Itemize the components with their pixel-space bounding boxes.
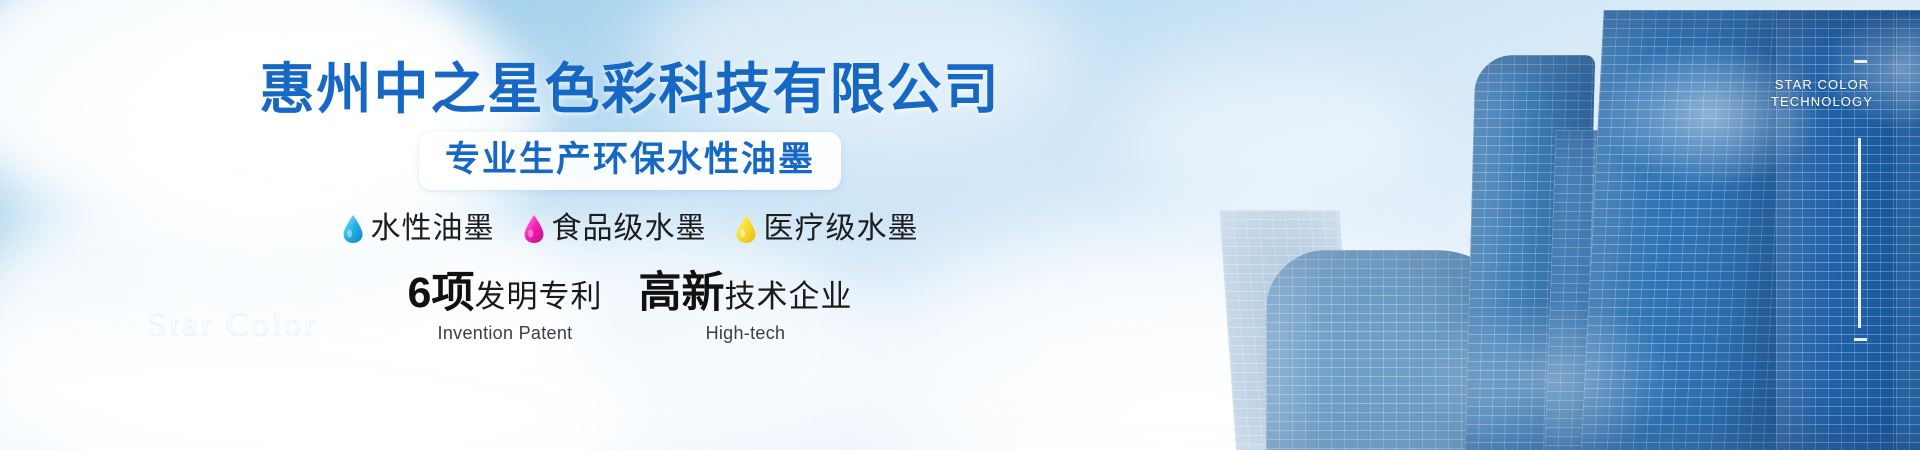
list-item: 水性油墨 (342, 212, 495, 246)
list-item: 食品级水墨 (523, 212, 707, 246)
tagline-badge: 专业生产环保水性油墨 (419, 132, 841, 190)
water-drop-icon (523, 214, 545, 244)
brand-rule-top (1854, 60, 1867, 63)
credential-english: High-tech (706, 322, 786, 344)
banner-content: 惠州中之星色彩科技有限公司 专业生产环保水性油墨 (0, 0, 1260, 450)
building-brand-text: STAR COLOR TECHNOLOGY (1756, 76, 1888, 110)
building-far-right-sliver (1896, 10, 1920, 450)
list-item: 医疗级水墨 (735, 212, 919, 246)
credentials-row: 6项 发明专利 Invention Patent 高新 技术企业 High-te… (408, 270, 853, 344)
credential-strong: 6项 (408, 270, 475, 317)
brand-rule-vertical (1858, 138, 1861, 328)
credential-line: 高新 技术企业 (638, 270, 852, 320)
water-drop-icon (342, 214, 364, 244)
product-list: 水性油墨 (342, 212, 919, 246)
water-drop-icon (735, 214, 757, 244)
credential-line: 6项 发明专利 (408, 270, 603, 320)
credential-rest: 技术企业 (724, 273, 852, 320)
credential-strong: 高新 (638, 270, 724, 317)
skyline-photo: STAR COLOR TECHNOLOGY (1220, 0, 1920, 450)
company-name-headline: 惠州中之星色彩科技有限公司 (259, 58, 1000, 120)
credential-rest: 发明专利 (474, 273, 602, 320)
company-hero-banner: STAR COLOR TECHNOLOGY Star Color 惠州中之星色彩… (0, 0, 1920, 450)
product-label: 医疗级水墨 (764, 212, 919, 246)
brand-rule-bottom (1854, 338, 1867, 341)
credential-english: Invention Patent (438, 322, 573, 344)
credential-invention-patent: 6项 发明专利 Invention Patent (408, 270, 603, 344)
product-label: 食品级水墨 (552, 212, 707, 246)
building-brand-line2: TECHNOLOGY (1756, 93, 1888, 110)
product-label: 水性油墨 (371, 212, 495, 246)
building-brand-line1: STAR COLOR (1756, 76, 1888, 93)
credential-high-tech: 高新 技术企业 High-tech (638, 270, 852, 344)
